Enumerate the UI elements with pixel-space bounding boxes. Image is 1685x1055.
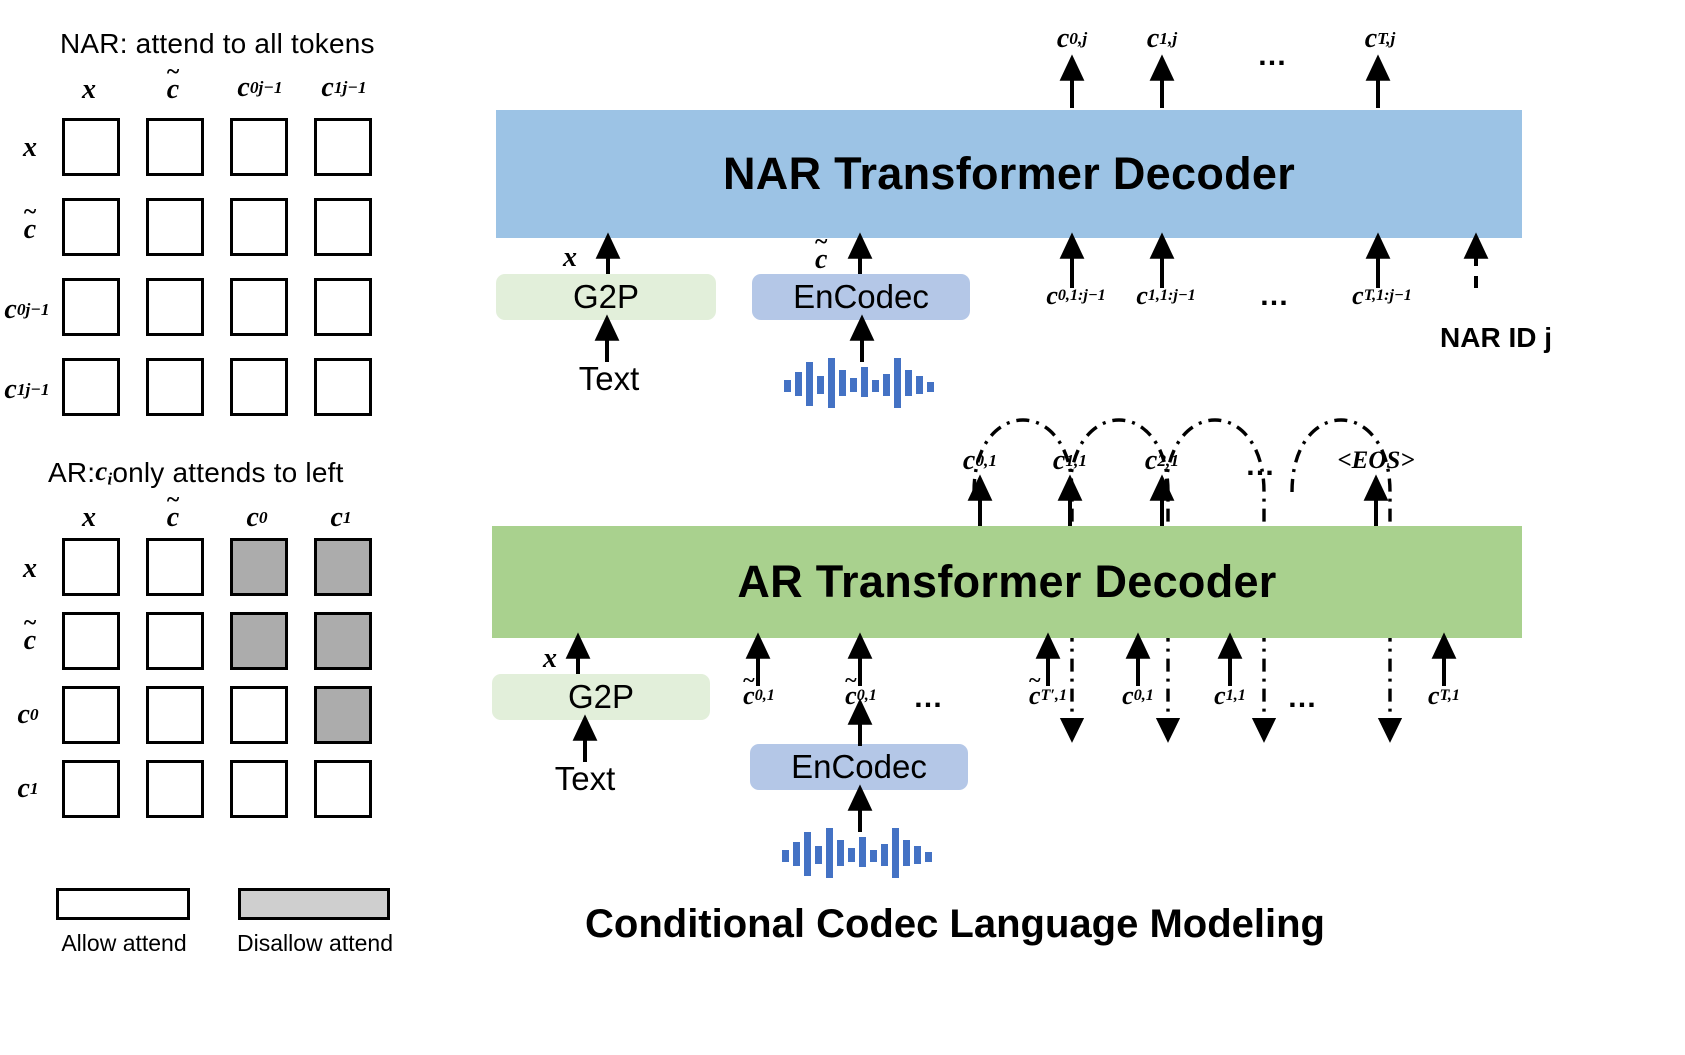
ar-output-c21: c2,1 — [1120, 444, 1204, 478]
ar-cell-2-3 — [314, 686, 372, 744]
ar-matrix-title-suffix: only attends to left — [112, 457, 343, 489]
legend-disallow-swatch — [238, 888, 390, 920]
nar-output-c1j: c1,j — [1122, 22, 1202, 56]
ar-cell-3-2 — [230, 760, 288, 818]
nar-transformer-decoder: NAR Transformer Decoder — [496, 110, 1522, 238]
figure-caption: Conditional Codec Language Modeling — [585, 902, 1325, 947]
legend-disallow-label: Disallow attend — [218, 930, 412, 957]
ar-cell-2-2 — [230, 686, 288, 744]
nar-row-header-ctilde: c~ — [8, 200, 52, 260]
nar-g2p-label: G2P — [573, 278, 639, 316]
nar-output-cTj: cT,j — [1338, 22, 1422, 56]
nar-output-arrows — [1030, 62, 1450, 110]
ar-col-header-c1: c1 — [310, 500, 372, 536]
ar-cell-3-1 — [146, 760, 204, 818]
ar-row-header-c1: c1 — [4, 760, 52, 818]
nar-cell-1-3 — [314, 198, 372, 256]
nar-encodec-label: EnCodec — [793, 278, 929, 316]
ar-g2p-output-token: x — [543, 645, 557, 673]
nar-cell-2-2 — [230, 278, 288, 336]
legend-allow-swatch — [56, 888, 190, 920]
nar-cell-0-1 — [146, 118, 204, 176]
ar-fedback-cT1: cT,1 — [1402, 680, 1486, 712]
nar-decoder-label: NAR Transformer Decoder — [723, 148, 1295, 200]
ar-cell-0-2 — [230, 538, 288, 596]
nar-prompt-cT: cT,1:j−1 — [1322, 280, 1442, 312]
nar-col-header-ctilde: c~ — [142, 72, 204, 108]
nar-prompt-ellipsis: … — [1240, 282, 1310, 310]
ar-output-eos: <EOS> — [1316, 444, 1436, 478]
nar-cell-1-1 — [146, 198, 204, 256]
nar-cell-0-3 — [314, 118, 372, 176]
ar-text-arrow — [563, 722, 613, 764]
ar-decoder-label: AR Transformer Decoder — [737, 556, 1276, 608]
nar-col-header-c1: c1j−1 — [308, 68, 380, 108]
nar-output-c0j: c0,j — [1032, 22, 1112, 56]
ar-prompt-c0-a: c~0,1 — [718, 680, 800, 712]
nar-cell-3-2 — [230, 358, 288, 416]
ar-row-header-x: x — [8, 540, 52, 598]
nar-col-header-c0: c0j−1 — [224, 68, 296, 108]
nar-text-arrow — [585, 322, 635, 364]
ar-output-c01: c0,1 — [938, 444, 1022, 478]
ar-cell-3-0 — [62, 760, 120, 818]
ar-encodec-module: EnCodec — [750, 744, 968, 790]
nar-g2p-output-token: x — [563, 244, 577, 272]
nar-g2p-module: G2P — [496, 274, 716, 320]
nar-cell-2-0 — [62, 278, 120, 336]
ar-g2p-module: G2P — [492, 674, 710, 720]
nar-row-header-c0: c0j−1 — [0, 280, 54, 340]
ar-cell-1-0 — [62, 612, 120, 670]
ar-text-input-label: Text — [510, 760, 660, 798]
nar-prompt-c1: c1,1:j−1 — [1108, 280, 1224, 312]
ar-row-header-ctilde: c~ — [8, 612, 52, 670]
ar-audio-waveform-icon — [782, 826, 942, 878]
ar-col-header-c0: c0 — [226, 500, 288, 536]
nar-cell-1-2 — [230, 198, 288, 256]
ar-matrix-title-prefix: AR: — [48, 457, 95, 489]
ar-cell-3-3 — [314, 760, 372, 818]
ar-prompt-cT: c~T′,1 — [1002, 680, 1094, 712]
ar-cell-2-0 — [62, 686, 120, 744]
nar-cell-0-2 — [230, 118, 288, 176]
nar-col-header-x: x — [58, 72, 120, 108]
nar-encodec-module: EnCodec — [752, 274, 970, 320]
ar-output-arrows — [936, 482, 1416, 528]
nar-encodec-output-token: c~ — [815, 246, 827, 274]
ar-cell-0-3 — [314, 538, 372, 596]
ar-output-c11: c1,1 — [1028, 444, 1112, 478]
nar-row-header-x: x — [8, 118, 52, 178]
ar-transformer-decoder: AR Transformer Decoder — [492, 526, 1522, 638]
nar-cell-0-0 — [62, 118, 120, 176]
ar-cell-2-1 — [146, 686, 204, 744]
ar-g2p-label: G2P — [568, 678, 634, 716]
ar-fedback-ellipsis: … — [1268, 684, 1338, 712]
ar-encodec-label: EnCodec — [791, 748, 927, 786]
nar-cell-3-1 — [146, 358, 204, 416]
ar-cell-1-3 — [314, 612, 372, 670]
legend-allow-label: Allow attend — [36, 930, 212, 957]
nar-cell-2-1 — [146, 278, 204, 336]
ar-col-header-ctilde: c~ — [142, 500, 204, 536]
ar-cell-1-1 — [146, 612, 204, 670]
ar-col-header-x: x — [58, 500, 120, 536]
nar-text-input-label: Text — [534, 360, 684, 398]
ar-prompt-ellipsis: … — [896, 684, 962, 712]
nar-id-label: NAR ID j — [1440, 322, 1552, 354]
ar-row-header-c0: c0 — [4, 686, 52, 744]
nar-row-header-c1: c1j−1 — [0, 360, 54, 420]
ar-fedback-c11: c1,1 — [1188, 680, 1272, 712]
ar-output-ellipsis: … — [1226, 452, 1296, 480]
nar-cell-1-0 — [62, 198, 120, 256]
nar-cell-2-3 — [314, 278, 372, 336]
ar-cell-0-0 — [62, 538, 120, 596]
ar-fedback-c01: c0,1 — [1096, 680, 1180, 712]
nar-cell-3-3 — [314, 358, 372, 416]
ar-cell-0-1 — [146, 538, 204, 596]
nar-audio-waveform-icon — [784, 356, 944, 408]
ar-encodec-output-arrow — [838, 706, 888, 748]
nar-cell-3-0 — [62, 358, 120, 416]
nar-matrix-title: NAR: attend to all tokens — [60, 28, 375, 60]
ar-cell-1-2 — [230, 612, 288, 670]
ar-matrix-title: AR: ci only attends to left — [48, 455, 344, 491]
